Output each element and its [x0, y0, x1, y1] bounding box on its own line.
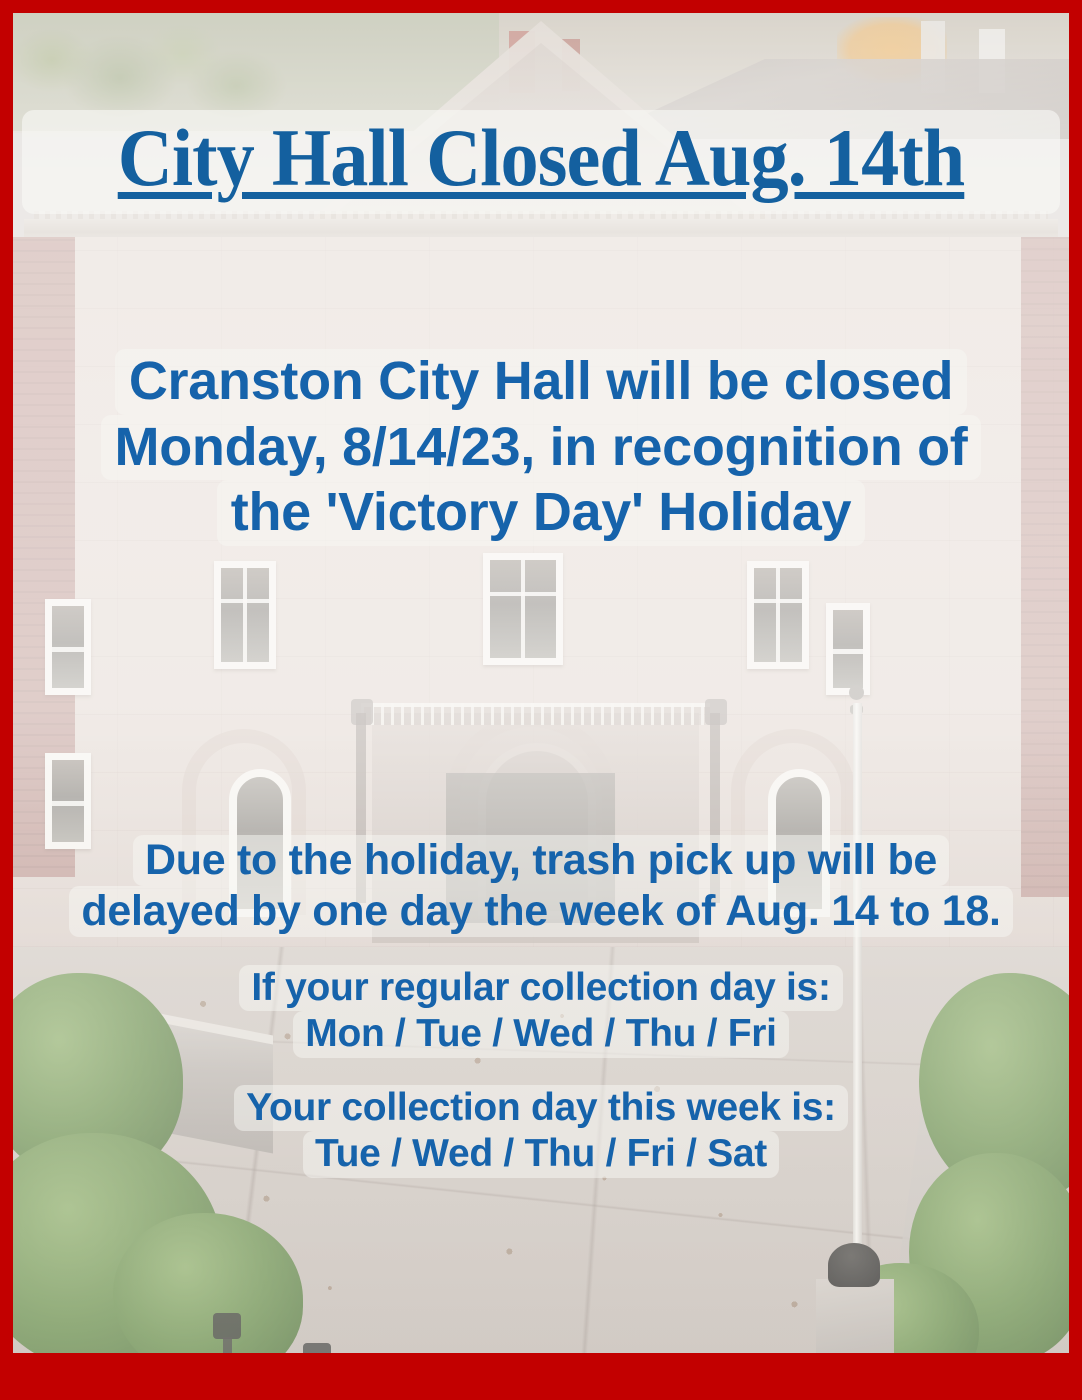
announcement-line-1: Cranston City Hall will be closed — [115, 349, 967, 415]
adjusted-schedule-block: Your collection day this week is: Tue / … — [73, 1085, 1009, 1178]
announcement-block: Cranston City Hall will be closed Monday… — [33, 349, 1049, 546]
poster: City Hall Closed Aug. 14th Cranston City… — [0, 0, 1082, 1400]
announcement-line-3: the 'Victory Day' Holiday — [217, 480, 865, 546]
regular-schedule-label: If your regular collection day is: — [239, 965, 842, 1011]
announcement-line-2: Monday, 8/14/23, in recognition of — [101, 415, 982, 481]
regular-schedule-block: If your regular collection day is: Mon /… — [73, 965, 1009, 1058]
adjusted-schedule-days: Tue / Wed / Thu / Fri / Sat — [303, 1131, 779, 1177]
adjusted-schedule-label: Your collection day this week is: — [234, 1085, 848, 1131]
page-title: City Hall Closed Aug. 14th — [71, 116, 1010, 200]
poster-content: City Hall Closed Aug. 14th Cranston City… — [13, 13, 1069, 1353]
title-banner: City Hall Closed Aug. 14th — [22, 110, 1060, 214]
poster-inner-frame: City Hall Closed Aug. 14th Cranston City… — [13, 13, 1069, 1353]
trash-notice-block: Due to the holiday, trash pick up will b… — [21, 835, 1061, 937]
regular-schedule-days: Mon / Tue / Wed / Thu / Fri — [293, 1011, 788, 1057]
trash-notice-line-2: delayed by one day the week of Aug. 14 t… — [69, 886, 1012, 937]
trash-notice-line-1: Due to the holiday, trash pick up will b… — [133, 835, 949, 886]
